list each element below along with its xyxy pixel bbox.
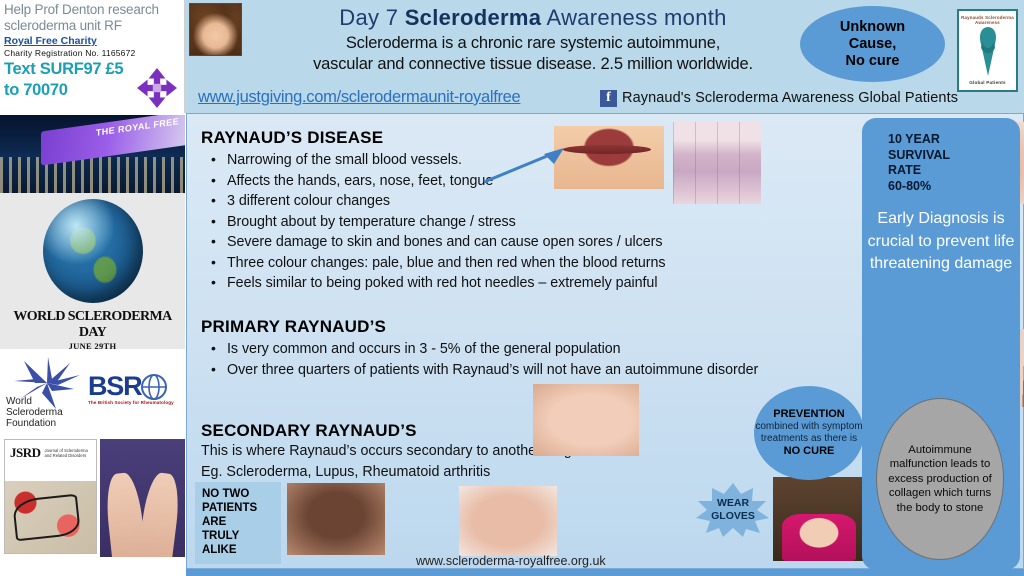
jsrd-mark: JSRD bbox=[10, 445, 41, 461]
woman-pink-gloves-photo bbox=[773, 477, 865, 561]
infographic-poster: Help Prof Denton research scleroderma un… bbox=[0, 0, 1024, 576]
royal-free-label: THE ROYAL FREE bbox=[96, 116, 179, 138]
autoimmune-oval: Autoimmune malfunction leads to excess p… bbox=[876, 398, 1004, 560]
facebook-page-name: Raynaud's Scleroderma Awareness Global P… bbox=[622, 90, 958, 106]
bottom-url[interactable]: www.scleroderma-royalfree.org.uk bbox=[416, 554, 606, 568]
secondary-line-2: Eg. Scleroderma, Lupus, Rheumatoid arthr… bbox=[201, 462, 721, 483]
footer-bar bbox=[186, 569, 1024, 576]
no-two-line-1: NO TWO bbox=[202, 487, 281, 501]
no-two-line-5: ALIKE bbox=[202, 543, 281, 557]
secondary-line-1: This is where Raynaud’s occurs secondary… bbox=[201, 441, 721, 462]
header-title-block: Day 7 Scleroderma Awareness month Sclero… bbox=[248, 0, 818, 75]
pale-blue-fingers-photo bbox=[673, 122, 761, 204]
title-rest: Awareness month bbox=[547, 5, 727, 30]
sidebar: THE ROYAL FREE WORLD SCLERODERMA DAY JUN… bbox=[0, 113, 185, 576]
unknown-line-2: Cause, bbox=[849, 36, 897, 53]
page-title: Day 7 Scleroderma Awareness month bbox=[248, 0, 818, 33]
world-scleroderma-foundation-logo: World Scleroderma Foundation bbox=[4, 355, 90, 431]
hand-discolouration-photo bbox=[459, 486, 557, 556]
primary-bullet-list: Is very common and occurs in 3 - 5% of t… bbox=[201, 339, 771, 380]
avatar bbox=[189, 3, 242, 56]
survival-line-4: 60-80% bbox=[888, 179, 1020, 195]
bsr-logo: BSR The British Society for Rheumatology bbox=[88, 373, 183, 409]
no-two-patients-badge: NO TWO PATIENTS ARE TRULY ALIKE bbox=[195, 482, 281, 564]
header: Help Prof Denton research scleroderma un… bbox=[0, 0, 1024, 113]
secondary-raynauds-heading: SECONDARY RAYNAUD’S bbox=[201, 421, 721, 441]
list-item: Feels similar to being poked with red ho… bbox=[201, 273, 761, 294]
world-scleroderma-day-date: JUNE 29TH bbox=[0, 341, 185, 351]
wsf-label: World Scleroderma Foundation bbox=[6, 396, 90, 429]
prevention-footer: NO CURE bbox=[784, 445, 835, 458]
wsf-label-line-1: World Scleroderma bbox=[6, 396, 90, 418]
earth-globe-photo bbox=[0, 193, 185, 311]
four-way-arrows-icon bbox=[136, 67, 178, 109]
bsr-acronym: BSR bbox=[88, 373, 141, 400]
finger-ulcer-photo bbox=[533, 384, 639, 456]
header-subtitle-line-1: Scleroderma is a chronic rare systemic a… bbox=[248, 33, 818, 54]
prevention-body: combined with symptom treatments as ther… bbox=[754, 421, 864, 445]
survival-line-3: RATE bbox=[888, 163, 1020, 179]
survival-line-1: 10 YEAR bbox=[888, 132, 1020, 148]
charity-promo-block: Help Prof Denton research scleroderma un… bbox=[0, 0, 185, 113]
wear-gloves-line-2: GLOVES bbox=[711, 510, 755, 523]
ribbon-logo-top-text: Raynauds Scleroderma Awareness bbox=[959, 15, 1016, 25]
survival-line-2: SURVIVAL bbox=[888, 148, 1020, 164]
unknown-line-3: No cure bbox=[846, 53, 900, 70]
wear-gloves-line-1: WEAR bbox=[717, 497, 749, 510]
footer-left-strip bbox=[0, 569, 186, 576]
no-two-line-2: PATIENTS bbox=[202, 501, 281, 515]
survival-rate-block: 10 YEAR SURVIVAL RATE 60-80% bbox=[862, 118, 1020, 194]
partner-logos: World Scleroderma Foundation BSR The Bri… bbox=[0, 351, 185, 437]
bsr-sphere-icon bbox=[141, 374, 167, 400]
prevention-heading: PREVENTION bbox=[773, 408, 845, 421]
charity-promo-title: Help Prof Denton research scleroderma un… bbox=[4, 2, 180, 34]
prevention-badge: PREVENTION combined with symptom treatme… bbox=[754, 386, 864, 480]
ribbon-logo-bottom-text: Global Patients bbox=[959, 80, 1016, 85]
scleroderma-hands-photo bbox=[100, 439, 185, 557]
right-hand-shape bbox=[138, 471, 183, 557]
title-bold-word: Scleroderma bbox=[405, 5, 542, 30]
royal-free-hospital-photo: THE ROYAL FREE bbox=[0, 115, 185, 193]
header-subtitle-line-2: vascular and connective tissue disease. … bbox=[248, 54, 818, 75]
lips-tongue-photo bbox=[554, 126, 664, 189]
wear-gloves-badge: WEAR GLOVES bbox=[693, 483, 773, 537]
world-scleroderma-day-block: WORLD SCLERODERMA DAY JUNE 29TH bbox=[0, 309, 185, 349]
jsrd-cover-art bbox=[5, 481, 97, 553]
day-label: Day 7 bbox=[339, 5, 398, 30]
discoloured-toes-photo bbox=[287, 483, 385, 555]
secondary-raynauds-section: SECONDARY RAYNAUD’S This is where Raynau… bbox=[201, 421, 721, 482]
royal-free-charity-link[interactable]: Royal Free Charity bbox=[4, 35, 180, 47]
awareness-ribbon-logo: Raynauds Scleroderma Awareness Global Pa… bbox=[957, 9, 1018, 92]
list-item: Over three quarters of patients with Ray… bbox=[201, 360, 771, 381]
charity-registration-number: Charity Registration No. 1165672 bbox=[4, 48, 180, 58]
unknown-line-1: Unknown bbox=[840, 19, 905, 36]
early-diagnosis-text: Early Diagnosis is crucial to prevent li… bbox=[862, 208, 1020, 276]
hospital-lights bbox=[0, 157, 185, 193]
list-item: Is very common and occurs in 3 - 5% of t… bbox=[201, 339, 771, 360]
autoimmune-oval-text: Autoimmune malfunction leads to excess p… bbox=[877, 443, 1003, 516]
list-item: Severe damage to skin and bones and can … bbox=[201, 232, 761, 253]
globe-icon bbox=[43, 199, 143, 303]
blue-arrow-icon bbox=[482, 146, 566, 186]
wsf-label-line-2: Foundation bbox=[6, 418, 90, 429]
facebook-icon[interactable]: f bbox=[600, 90, 617, 107]
list-item: Brought about by temperature change / st… bbox=[201, 212, 761, 233]
primary-raynauds-heading: PRIMARY RAYNAUD’S bbox=[201, 317, 771, 337]
primary-raynauds-section: PRIMARY RAYNAUD’S Is very common and occ… bbox=[201, 317, 771, 380]
world-scleroderma-day-title: WORLD SCLERODERMA DAY bbox=[0, 309, 185, 341]
no-two-line-3: ARE bbox=[202, 515, 281, 529]
teal-awareness-ribbon-icon bbox=[973, 24, 1003, 78]
list-item: Three colour changes: pale, blue and the… bbox=[201, 253, 761, 274]
bsr-tagline: The British Society for Rheumatology bbox=[88, 400, 183, 405]
right-stats-panel: 10 YEAR SURVIVAL RATE 60-80% Early Diagn… bbox=[862, 118, 1020, 570]
jsrd-subtitle: Journal of Scleroderma and Related Disor… bbox=[45, 445, 91, 459]
wear-gloves-text: WEAR GLOVES bbox=[693, 483, 773, 537]
no-two-line-4: TRULY bbox=[202, 529, 281, 543]
jsrd-journal-cover: JSRD Journal of Scleroderma and Related … bbox=[4, 439, 97, 554]
justgiving-link[interactable]: www.justgiving.com/sclerodermaunit-royal… bbox=[198, 88, 520, 107]
unknown-cause-badge: Unknown Cause, No cure bbox=[800, 6, 945, 82]
